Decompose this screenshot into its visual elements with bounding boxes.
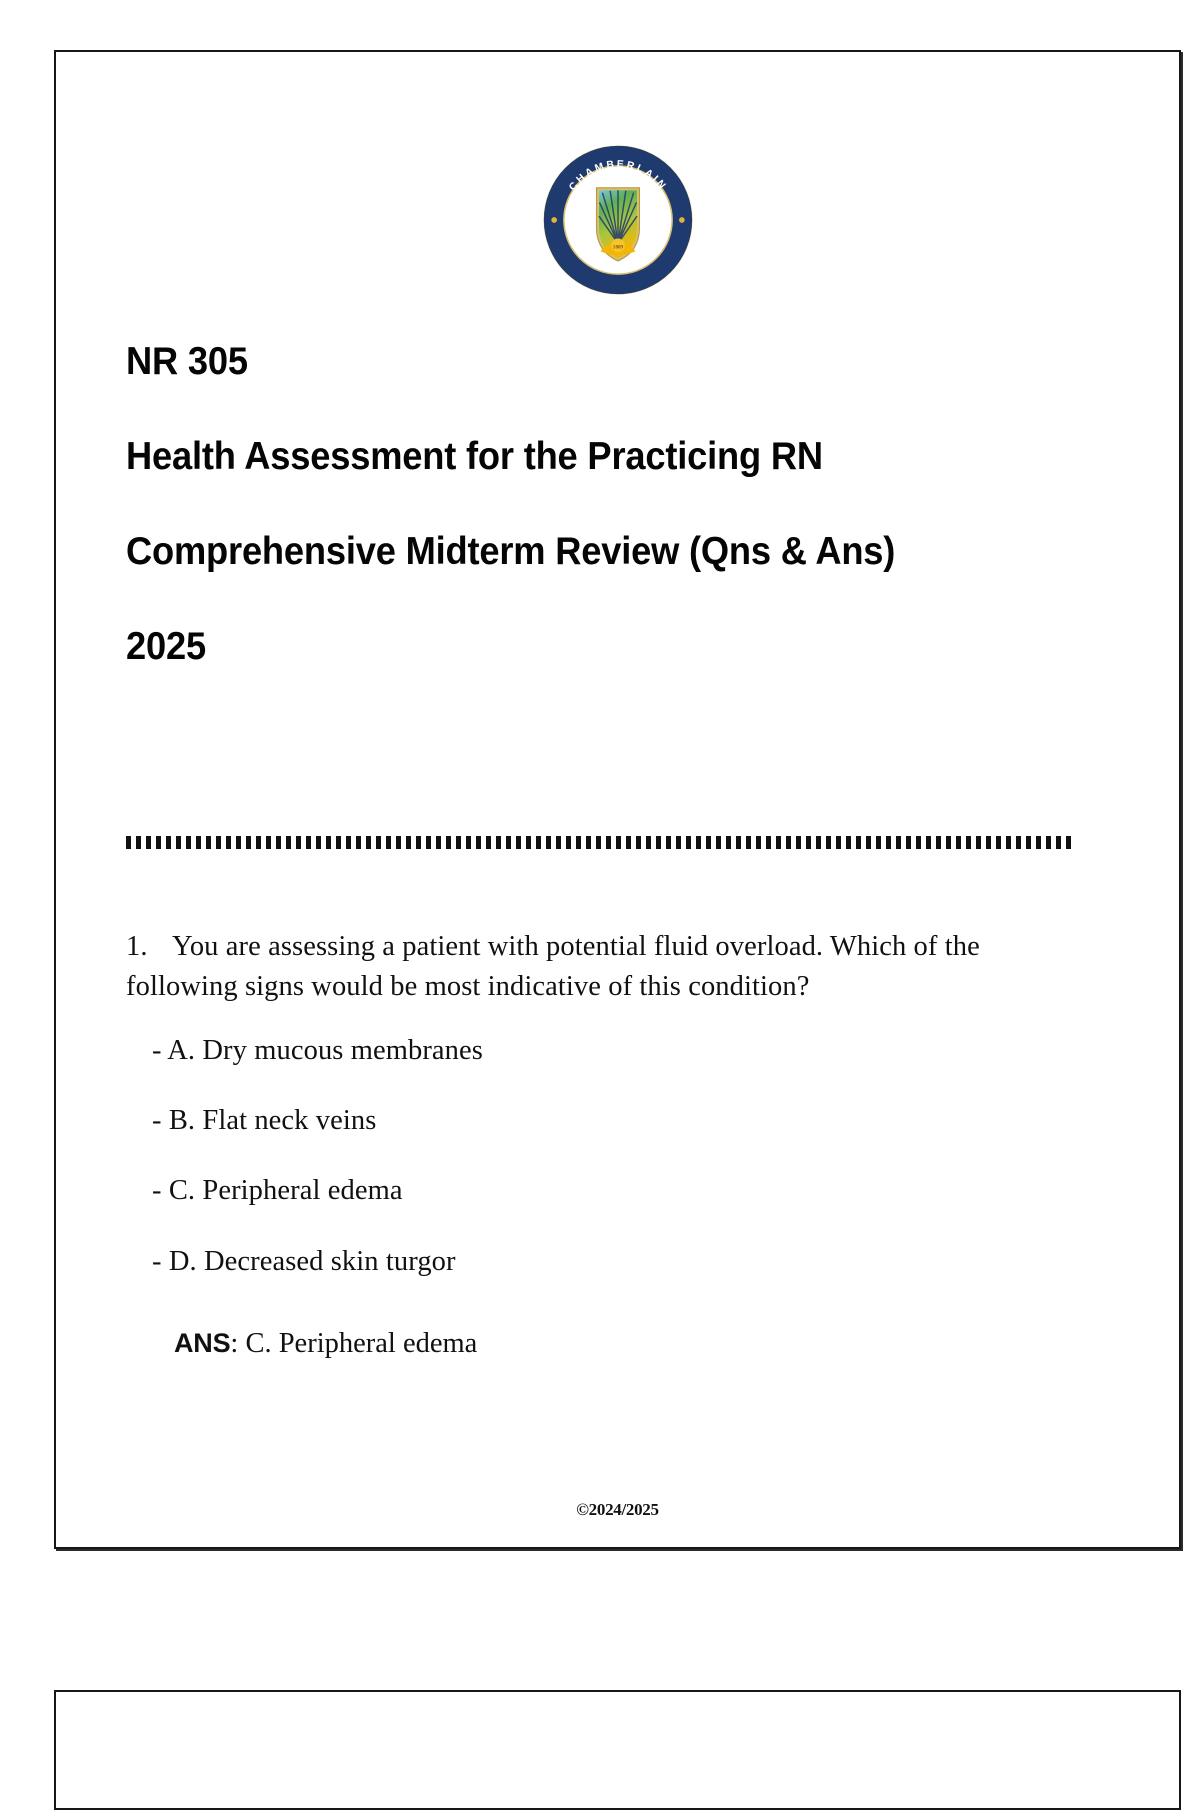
chamberlain-university-seal-icon: CHAMBERLAIN UNIVERSITY <box>540 142 696 298</box>
logo-container: CHAMBERLAIN UNIVERSITY <box>56 142 1179 298</box>
review-subtitle-heading: Comprehensive Midterm Review (Qns & Ans) <box>126 532 1019 573</box>
answer-label: ANS <box>174 1328 230 1358</box>
answer-options-list: - A. Dry mucous membranes - B. Flat neck… <box>126 1034 1086 1279</box>
year-heading: 2025 <box>126 627 1019 668</box>
copyright-footer: ©2024/2025 <box>56 1500 1179 1520</box>
answer-value: : C. Peripheral edema <box>230 1328 477 1359</box>
question-block: 1.You are assessing a patient with poten… <box>126 927 1086 1279</box>
document-page-2-top-edge <box>54 1690 1181 1810</box>
option-a[interactable]: - A. Dry mucous membranes <box>126 1034 1086 1068</box>
answer-line: ANS: C. Peripheral edema <box>126 1327 477 1361</box>
svg-text:1889: 1889 <box>612 244 623 250</box>
option-d[interactable]: - D. Decreased skin turgor <box>126 1245 1086 1279</box>
course-name-heading: Health Assessment for the Practicing RN <box>126 437 1019 478</box>
document-page-1: CHAMBERLAIN UNIVERSITY <box>54 50 1181 1549</box>
option-b[interactable]: - B. Flat neck veins <box>126 1104 1086 1138</box>
dotted-separator <box>126 836 1074 849</box>
option-c[interactable]: - C. Peripheral edema <box>126 1174 1086 1208</box>
document-title-block: NR 305 Health Assessment for the Practic… <box>126 342 1086 668</box>
question-number: 1. <box>126 927 172 967</box>
course-code-heading: NR 305 <box>126 342 1019 383</box>
question-stem: 1.You are assessing a patient with poten… <box>126 927 1086 1008</box>
question-stem-text: You are assessing a patient with potenti… <box>126 931 980 1002</box>
